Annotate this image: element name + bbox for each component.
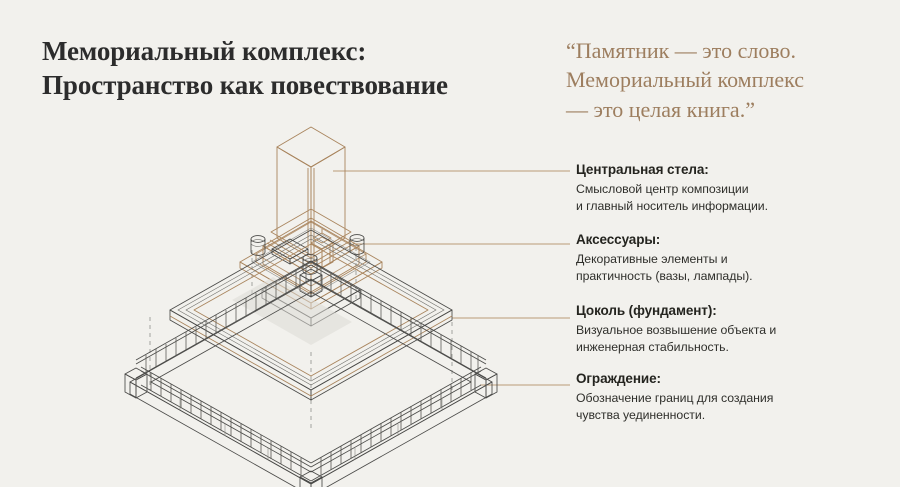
annotation-accessories: Аксессуары: Декоративные элементы и прак… (576, 232, 896, 285)
annotation-pedestal: Цоколь (фундамент): Визуальное возвышени… (576, 303, 896, 356)
annotation-body: Визуальное возвышение объекта и инженерн… (576, 322, 896, 356)
annotation-fence: Ограждение: Обозначение границ для созда… (576, 371, 896, 424)
annotation-body-line2: чувства уединенности. (576, 407, 896, 424)
annotation-heading: Аксессуары: (576, 232, 896, 248)
layer-fence (125, 261, 497, 487)
annotation-body-line1: Смысловой центр композиции (576, 181, 896, 198)
annotation-body-line1: Обозначение границ для создания (576, 390, 896, 407)
annotation-body-line1: Декоративные элементы и (576, 251, 896, 268)
infographic-canvas: Мемориальный комплекс: Пространство как … (0, 0, 900, 487)
annotation-heading: Центральная стела: (576, 162, 896, 178)
annotation-body-line2: и главный носитель информации. (576, 198, 896, 215)
annotation-heading: Цоколь (фундамент): (576, 303, 896, 319)
annotation-body-line1: Визуальное возвышение объекта и (576, 322, 896, 339)
annotation-body: Обозначение границ для создания чувства … (576, 390, 896, 424)
annotation-body: Декоративные элементы и практичность (ва… (576, 251, 896, 285)
annotation-central-stele: Центральная стела: Смысловой центр компо… (576, 162, 896, 215)
annotation-body-line2: инженерная стабильность. (576, 339, 896, 356)
annotation-body: Смысловой центр композиции и главный нос… (576, 181, 896, 215)
annotation-body-line2: практичность (вазы, лампады). (576, 268, 896, 285)
leader-lines (333, 171, 570, 385)
annotation-heading: Ограждение: (576, 371, 896, 387)
